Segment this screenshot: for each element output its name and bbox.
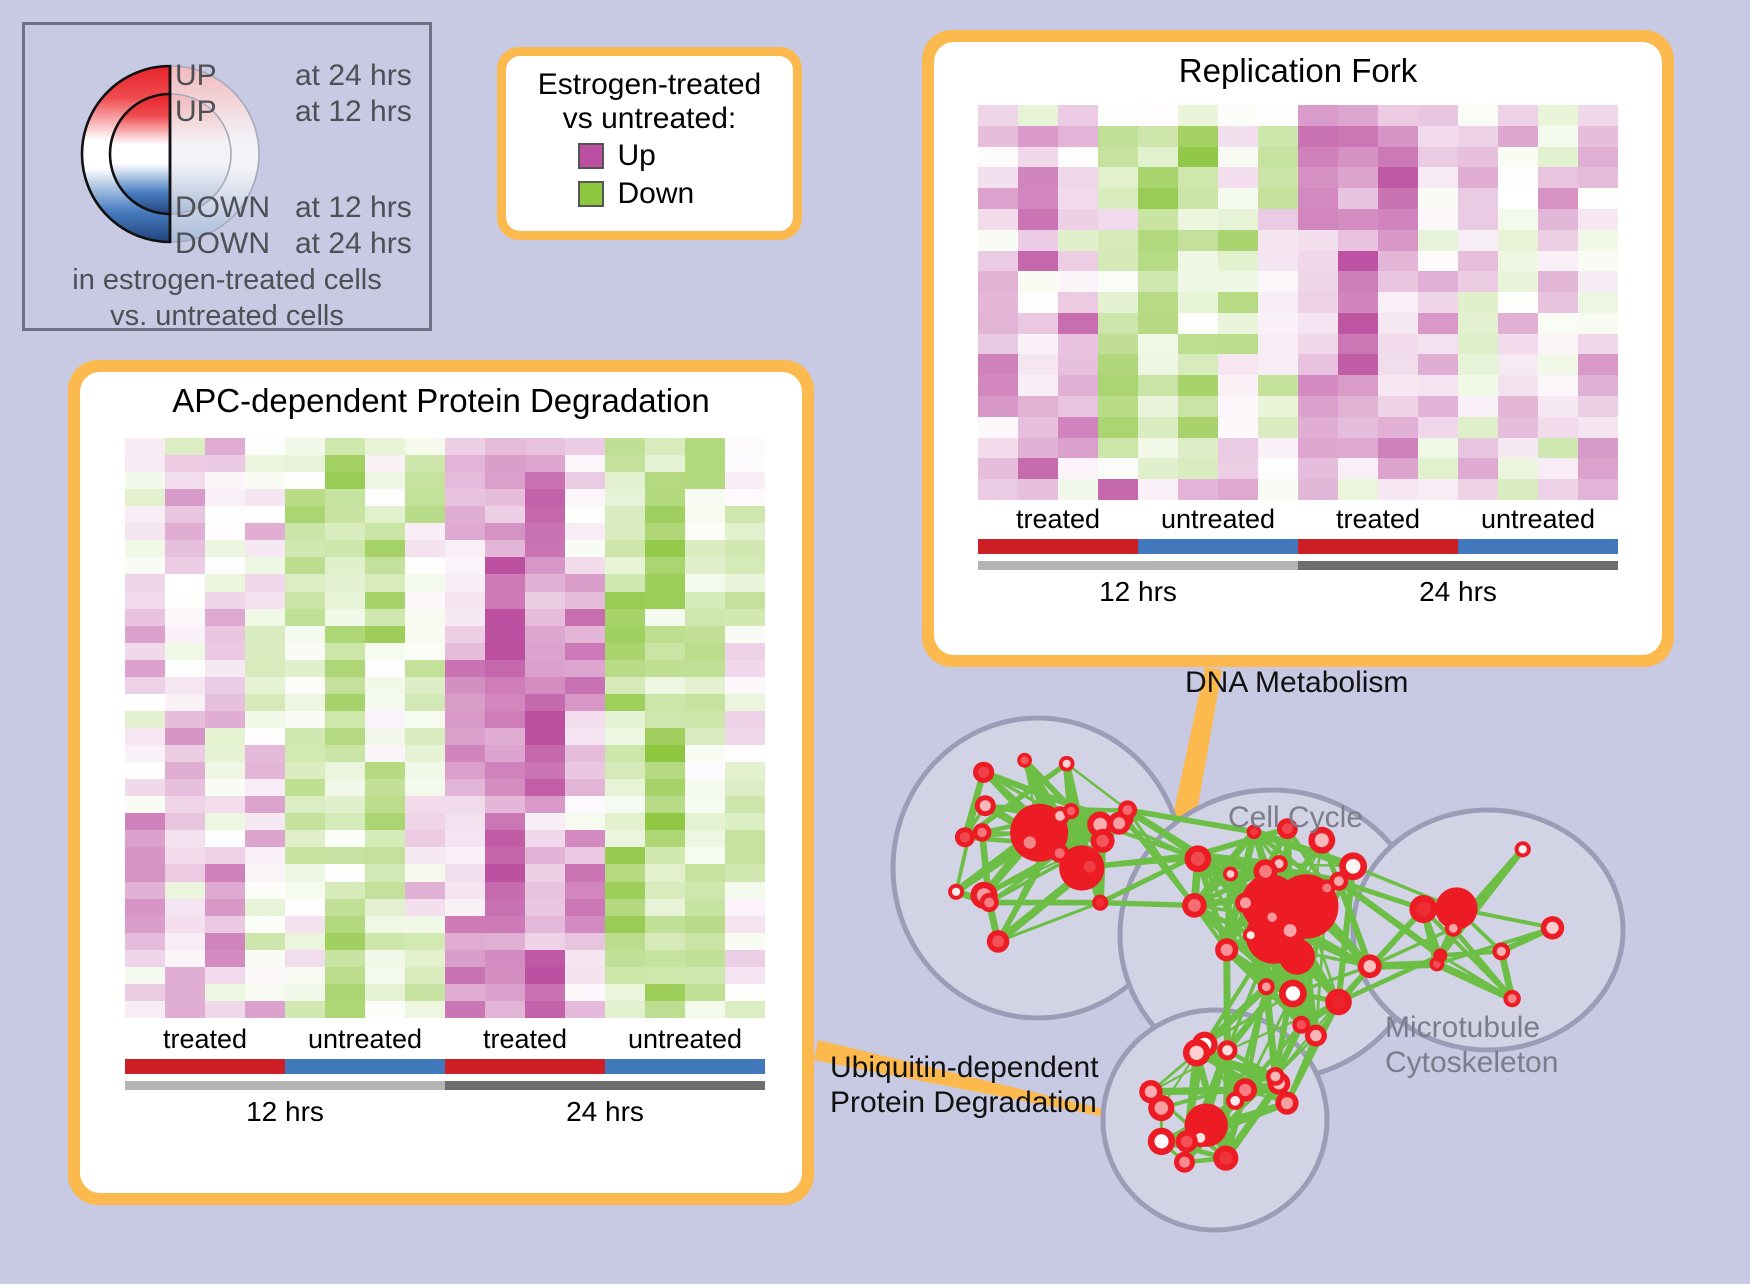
heatmap-cell <box>1338 479 1378 500</box>
network-node[interactable] <box>1174 1152 1195 1173</box>
network-node[interactable] <box>1541 916 1564 939</box>
heatmap-cell <box>405 779 445 796</box>
heatmap-cell <box>285 933 325 950</box>
heatmap-cell <box>525 609 565 626</box>
heatmap-cell <box>525 882 565 899</box>
heatmap-cell <box>525 626 565 643</box>
heatmap-cell <box>325 813 365 830</box>
heatmap-cell <box>405 830 445 847</box>
heatmap-cell <box>245 882 285 899</box>
heatmap-cell <box>125 694 165 711</box>
heatmap-cell <box>565 745 605 762</box>
heatmap-cell <box>525 643 565 660</box>
network-node[interactable] <box>1215 938 1238 961</box>
heatmap-cell <box>485 950 525 967</box>
heatmap-cell <box>1258 188 1298 209</box>
heatmap-cell <box>1058 126 1098 147</box>
network-node[interactable] <box>973 762 994 783</box>
heatmap-cell <box>285 916 325 933</box>
heatmap-cell <box>405 592 445 609</box>
heatmap-cell <box>445 489 485 506</box>
heatmap-cell <box>645 830 685 847</box>
heatmap-cell <box>1098 417 1138 438</box>
heatmap-cell <box>605 455 645 472</box>
heatmap-cell <box>125 950 165 967</box>
heatmap-cell <box>685 745 725 762</box>
network-node[interactable] <box>948 884 964 900</box>
cluster-label-cell-cycle: Cell Cycle <box>1228 800 1363 835</box>
heatmap-cell <box>485 1001 525 1018</box>
heatmap-cell <box>565 728 605 745</box>
heatmap-cell <box>365 660 405 677</box>
network-node[interactable] <box>1017 753 1032 768</box>
heatmap-cell <box>205 882 245 899</box>
heatmap-cell <box>205 796 245 813</box>
heatmap-cell <box>1138 458 1178 479</box>
heatmap-cell <box>1338 188 1378 209</box>
heatmap-cell <box>445 438 485 455</box>
network-node[interactable] <box>1275 1092 1298 1115</box>
network-node[interactable] <box>1018 831 1042 855</box>
network-node[interactable] <box>1092 895 1108 911</box>
heatmap-cell <box>645 711 685 728</box>
condition-label: untreated <box>1138 504 1298 535</box>
heatmap-cell <box>205 745 245 762</box>
heatmap-cell <box>1538 354 1578 375</box>
heatmap-cell <box>1538 458 1578 479</box>
heatmap-cell <box>1458 438 1498 459</box>
heatmap-cell <box>325 592 365 609</box>
heatmap-cell <box>325 694 365 711</box>
key-time-label: at 12 hrs <box>295 97 412 127</box>
heatmap-cell <box>565 506 605 523</box>
heatmap-cell <box>245 489 285 506</box>
network-node[interactable] <box>1298 945 1313 960</box>
heatmap-cell <box>1178 147 1218 168</box>
heatmap-cell <box>1178 417 1218 438</box>
heatmap-cell <box>1058 167 1098 188</box>
heatmap-cell <box>1098 105 1138 126</box>
network-node[interactable] <box>1148 1128 1175 1155</box>
heatmap-cell <box>325 472 365 489</box>
network-node[interactable] <box>955 827 975 847</box>
heatmap-cell <box>125 728 165 745</box>
heatmap-cell <box>165 557 205 574</box>
heatmap-cell <box>1218 479 1258 500</box>
heatmap-cell <box>565 779 605 796</box>
heatmap-cell <box>205 933 245 950</box>
heatmap-cell <box>1218 105 1258 126</box>
network-node[interactable] <box>1063 803 1079 819</box>
heatmap-cell <box>365 813 405 830</box>
heatmap-cell <box>125 984 165 1001</box>
heatmap-cell <box>1138 375 1178 396</box>
heatmap-cell <box>485 899 525 916</box>
heatmap-cell <box>565 796 605 813</box>
heatmap-cell <box>365 592 405 609</box>
heatmap-cell <box>325 455 365 472</box>
heatmap-cell <box>205 506 245 523</box>
heatmap-cell <box>685 472 725 489</box>
heatmap-cell <box>1298 251 1338 272</box>
network-node[interactable] <box>1266 1067 1285 1086</box>
heatmap-cell <box>1498 209 1538 230</box>
heatmap-cell <box>525 899 565 916</box>
heatmap-cell <box>1578 354 1618 375</box>
heatmap-cell <box>285 711 325 728</box>
heatmap-cell <box>1138 438 1178 459</box>
heatmap-cell <box>1258 209 1298 230</box>
heatmap-cell <box>205 643 245 660</box>
heatmap-cell <box>725 455 765 472</box>
heatmap-cell <box>605 523 645 540</box>
heatmap-cell <box>445 660 485 677</box>
heatmap-cell <box>125 489 165 506</box>
heatmap-cell <box>1018 126 1058 147</box>
heatmap-cell <box>325 540 365 557</box>
heatmap-cell <box>1058 354 1098 375</box>
heatmap-cell <box>325 779 365 796</box>
heatmap-cell <box>1098 230 1138 251</box>
network-node[interactable] <box>1176 1130 1198 1152</box>
network-node[interactable] <box>1217 1040 1237 1060</box>
heatmap-cell <box>565 455 605 472</box>
heatmap-cell <box>1298 375 1338 396</box>
network-node[interactable] <box>1492 943 1510 961</box>
heatmap-cell <box>525 830 565 847</box>
heatmap-cell <box>1058 313 1098 334</box>
pathway-network-diagram: DNA Metabolism Cell Cycle Microtubule Cy… <box>880 650 1750 1279</box>
heatmap-cell <box>125 609 165 626</box>
heatmap-cell <box>1058 438 1098 459</box>
heatmap-cell <box>1058 209 1098 230</box>
heatmap-cell <box>978 458 1018 479</box>
heatmap-cell <box>978 188 1018 209</box>
network-node[interactable] <box>1258 978 1275 995</box>
heatmap-cell <box>165 864 205 881</box>
network-node[interactable] <box>1050 844 1069 863</box>
heatmap-cell <box>1538 167 1578 188</box>
heatmap-cell <box>205 984 245 1001</box>
heatmap-cell <box>525 779 565 796</box>
heatmap-cell <box>1058 251 1098 272</box>
heatmap-cell <box>1458 313 1498 334</box>
condition-bar-segment <box>445 1059 605 1074</box>
heatmap-cell <box>125 574 165 591</box>
cluster-label-ubiquitin-degradation: Ubiquitin-dependent Protein Degradation <box>830 1050 1099 1121</box>
heatmap-cell <box>365 984 405 1001</box>
condition-label: treated <box>125 1024 285 1055</box>
network-node[interactable] <box>980 893 999 912</box>
heatmap-cell <box>525 916 565 933</box>
heatmap-cell <box>1138 126 1178 147</box>
heatmap-cell <box>205 864 245 881</box>
heatmap-cell <box>245 626 285 643</box>
heatmap-cell <box>445 711 485 728</box>
heatmap-cell <box>445 796 485 813</box>
network-node[interactable] <box>1278 918 1303 943</box>
heatmap-cell <box>125 523 165 540</box>
heatmap-cell <box>285 472 325 489</box>
heatmap-cell <box>1498 458 1538 479</box>
panel-replication-fork: Replication Fork treated untreated treat… <box>922 30 1674 667</box>
heatmap-cell <box>485 847 525 864</box>
heatmap-cell <box>565 592 605 609</box>
heatmap-cell <box>1338 375 1378 396</box>
heatmap-cell <box>245 984 285 1001</box>
condition-label: treated <box>978 504 1138 535</box>
network-node[interactable] <box>1292 1016 1310 1034</box>
network-node[interactable] <box>1059 756 1075 772</box>
network-node[interactable] <box>1503 990 1520 1007</box>
heatmap-cell <box>1138 167 1178 188</box>
network-node[interactable] <box>975 795 996 816</box>
heatmap-cell <box>1418 126 1458 147</box>
heatmap-cell <box>1058 292 1098 313</box>
heatmap-cell <box>1178 251 1218 272</box>
heatmap-cell <box>445 455 485 472</box>
heatmap-cell <box>205 694 245 711</box>
heatmap-cell <box>165 950 205 967</box>
network-node[interactable] <box>1243 927 1259 943</box>
figure-canvas: UP at 24 hrs UP at 12 hrs DOWN at 12 hrs… <box>0 0 1750 1279</box>
heatmap-cell <box>1018 375 1058 396</box>
heatmap-cell <box>165 728 205 745</box>
heatmap-cell <box>1218 438 1258 459</box>
heatmap-cell <box>165 677 205 694</box>
heatmap-cell <box>1338 396 1378 417</box>
heatmap-cell <box>485 455 525 472</box>
heatmap-cell <box>605 609 645 626</box>
heatmap-cell <box>978 334 1018 355</box>
heatmap-cell <box>165 711 205 728</box>
heatmap-cell <box>125 540 165 557</box>
heatmap-cell <box>485 626 525 643</box>
key-direction-label: DOWN <box>175 229 295 259</box>
heatmap-cell <box>205 711 245 728</box>
network-node[interactable] <box>1515 841 1531 857</box>
condition-bar-segment <box>605 1059 765 1074</box>
heatmap-cell <box>205 438 245 455</box>
heatmap-cell <box>1578 188 1618 209</box>
network-node[interactable] <box>973 823 992 842</box>
heatmap-cell <box>205 557 245 574</box>
heatmap-cell <box>365 557 405 574</box>
heatmap-cell <box>245 540 285 557</box>
heatmap-cell <box>285 694 325 711</box>
heatmap-cell <box>165 796 205 813</box>
network-node[interactable] <box>1213 1146 1238 1171</box>
heatmap-cell <box>245 864 285 881</box>
heatmap-cell <box>445 745 485 762</box>
heatmap-cell <box>205 1001 245 1018</box>
heatmap-cell <box>685 950 725 967</box>
heatmap-cell <box>285 540 325 557</box>
heatmap-cell <box>645 984 685 1001</box>
heatmap-cell <box>1258 167 1298 188</box>
heatmap-cell <box>125 899 165 916</box>
panel-apc-degradation: APC-dependent Protein Degradation treate… <box>68 360 814 1205</box>
heatmap-cell <box>1378 458 1418 479</box>
heatmap-cell <box>165 489 205 506</box>
heatmap-cell <box>405 677 445 694</box>
heatmap-cell <box>645 796 685 813</box>
heatmap-cell <box>1138 396 1178 417</box>
network-node[interactable] <box>1235 892 1256 913</box>
heatmap-cell <box>205 967 245 984</box>
heatmap-cell <box>1338 417 1378 438</box>
heatmap-cell <box>525 472 565 489</box>
heatmap-cell <box>1338 292 1378 313</box>
network-node[interactable] <box>1358 954 1382 978</box>
heatmap-cell <box>725 1001 765 1018</box>
heatmap-cell <box>1458 209 1498 230</box>
heatmap-cell <box>445 506 485 523</box>
heatmap-cell <box>1338 147 1378 168</box>
heatmap-cell <box>1178 438 1218 459</box>
heatmap-cell <box>1298 105 1338 126</box>
heatmap-cell <box>325 933 365 950</box>
network-node[interactable] <box>987 930 1010 953</box>
heatmap-cell <box>645 847 685 864</box>
heatmap-cell <box>285 609 325 626</box>
cluster-label-microtubule-cytoskeleton: Microtubule Cytoskeleton <box>1385 1010 1558 1081</box>
heatmap-cell <box>605 643 645 660</box>
heatmap-cell <box>405 967 445 984</box>
heatmap-cell <box>685 626 725 643</box>
heatmap-cell <box>485 643 525 660</box>
heatmap-cell <box>285 796 325 813</box>
heatmap-cell <box>725 540 765 557</box>
heatmap-cell <box>485 933 525 950</box>
heatmap-cell <box>645 592 685 609</box>
heatmap-cell <box>725 950 765 967</box>
network-node[interactable] <box>1091 829 1115 853</box>
heatmap-cell <box>685 694 725 711</box>
heatmap-cell <box>1298 126 1338 147</box>
heatmap-cell <box>645 506 685 523</box>
heatmap-cell <box>125 677 165 694</box>
heatmap-cell <box>1418 292 1458 313</box>
heatmap-cell <box>165 984 205 1001</box>
heatmap-cell <box>645 489 685 506</box>
heatmap-cell <box>1458 230 1498 251</box>
heatmap-cell <box>405 455 445 472</box>
heatmap-cell <box>445 472 485 489</box>
network-node[interactable] <box>1253 859 1277 883</box>
heatmap-cell <box>1418 458 1458 479</box>
heatmap-cell <box>445 916 485 933</box>
heatmap-cell <box>325 984 365 1001</box>
network-node[interactable] <box>1183 1039 1210 1066</box>
key-time-label: at 24 hrs <box>295 229 412 259</box>
network-node[interactable] <box>1325 989 1352 1016</box>
network-node[interactable] <box>1226 1092 1244 1110</box>
network-node[interactable] <box>1263 908 1281 926</box>
condition-label: treated <box>1298 504 1458 535</box>
heatmap-cell <box>445 677 485 694</box>
network-node[interactable] <box>1433 948 1447 962</box>
heatmap-cell <box>685 540 725 557</box>
heatmap-cell <box>1218 334 1258 355</box>
heatmap-cell <box>1378 334 1418 355</box>
heatmap-cell <box>978 313 1018 334</box>
heatmap-cell <box>978 271 1018 292</box>
timepoint-labels-replication-fork: 12 hrs 24 hrs <box>978 576 1618 608</box>
heatmap-cell <box>405 745 445 762</box>
network-node[interactable] <box>1078 855 1101 878</box>
heatmap-cell <box>1218 354 1258 375</box>
heatmap-cell <box>205 813 245 830</box>
heatmap-cell <box>565 916 605 933</box>
heatmap-cell <box>1578 313 1618 334</box>
heatmap-cell <box>485 864 525 881</box>
network-node[interactable] <box>1279 980 1307 1008</box>
heatmap-cell <box>605 728 645 745</box>
heatmap-cell <box>165 847 205 864</box>
heatmap-cell <box>1498 334 1538 355</box>
heatmap-cell <box>605 1001 645 1018</box>
heatmap-cell <box>445 643 485 660</box>
heatmap-cell <box>485 489 525 506</box>
heatmap-cell <box>405 540 445 557</box>
heatmap-cell <box>1018 209 1058 230</box>
heatmap-cell <box>1138 251 1178 272</box>
heatmap-cell <box>685 984 725 1001</box>
network-node[interactable] <box>1148 1095 1174 1121</box>
heatmap-cell <box>565 489 605 506</box>
heatmap-cell <box>725 643 765 660</box>
heatmap-cell <box>645 882 685 899</box>
heatmap-cell <box>445 899 485 916</box>
heatmap-cell <box>1458 188 1498 209</box>
network-node[interactable] <box>1182 893 1207 918</box>
heatmap-cell <box>485 796 525 813</box>
heatmap-cell <box>645 864 685 881</box>
heatmap-cell <box>725 779 765 796</box>
heatmap-cell <box>365 677 405 694</box>
heatmap-cell <box>645 813 685 830</box>
network-node[interactable] <box>1409 895 1437 923</box>
network-node[interactable] <box>1329 872 1348 891</box>
heatmap-cell <box>1178 105 1218 126</box>
heatmap-cell <box>285 438 325 455</box>
heatmap-cell <box>1018 417 1058 438</box>
network-node[interactable] <box>1445 920 1462 937</box>
heatmap-cell <box>445 694 485 711</box>
heatmap-cell <box>978 438 1018 459</box>
heatmap-cell <box>205 899 245 916</box>
heatmap-cell <box>1258 479 1298 500</box>
heatmap-cell <box>1418 375 1458 396</box>
heatmap-cell <box>325 864 365 881</box>
network-node[interactable] <box>1185 845 1212 872</box>
heatmap-cell <box>445 847 485 864</box>
heatmap-cell <box>1418 417 1458 438</box>
heatmap-cell <box>1178 230 1218 251</box>
network-node[interactable] <box>1118 800 1137 819</box>
heatmap-cell <box>1418 271 1458 292</box>
heatmap-cell <box>285 455 325 472</box>
heatmap-cell <box>1018 292 1058 313</box>
heatmap-cell <box>685 830 725 847</box>
heatmap-cell <box>1298 417 1338 438</box>
heatmap-cell <box>1178 458 1218 479</box>
heatmap-cell <box>1378 147 1418 168</box>
network-node[interactable] <box>1223 867 1238 882</box>
heatmap-cell <box>245 796 285 813</box>
heatmap-cell <box>1498 188 1538 209</box>
